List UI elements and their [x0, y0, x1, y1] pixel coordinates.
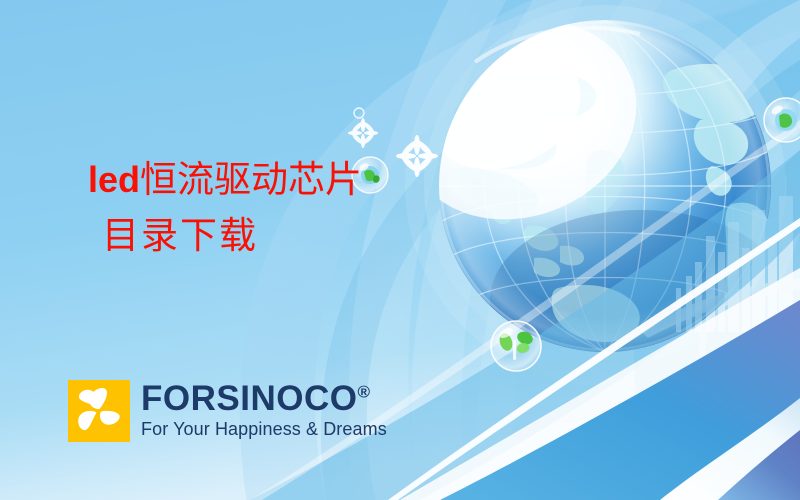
bubble-sprout-icon: [491, 321, 541, 371]
headline-line-1: led恒流驱动芯片: [88, 162, 362, 199]
bubble-globe-icon-right: [764, 98, 800, 142]
forsinoco-pinwheel-mark: [68, 380, 130, 442]
pinwheel-petals: [78, 388, 119, 430]
headline-cjk: 恒流驱动芯片: [140, 160, 362, 201]
headline-line-2: 目录下载: [102, 218, 362, 255]
banner-canvas: led恒流驱动芯片 目录下载 FORSINOCO® For Your Happi…: [0, 0, 800, 500]
headline-text: led恒流驱动芯片 目录下载: [88, 162, 362, 255]
company-logo[interactable]: FORSINOCO® For Your Happiness & Dreams: [68, 380, 387, 442]
brand-tagline: For Your Happiness & Dreams: [141, 419, 387, 440]
logo-wordmark: FORSINOCO® For Your Happiness & Dreams: [141, 380, 387, 440]
brand-text: FORSINOCO: [141, 379, 357, 418]
headline-latin: led: [88, 159, 140, 200]
brand-name: FORSINOCO®: [141, 382, 387, 416]
registered-trademark-symbol: ®: [357, 382, 370, 401]
